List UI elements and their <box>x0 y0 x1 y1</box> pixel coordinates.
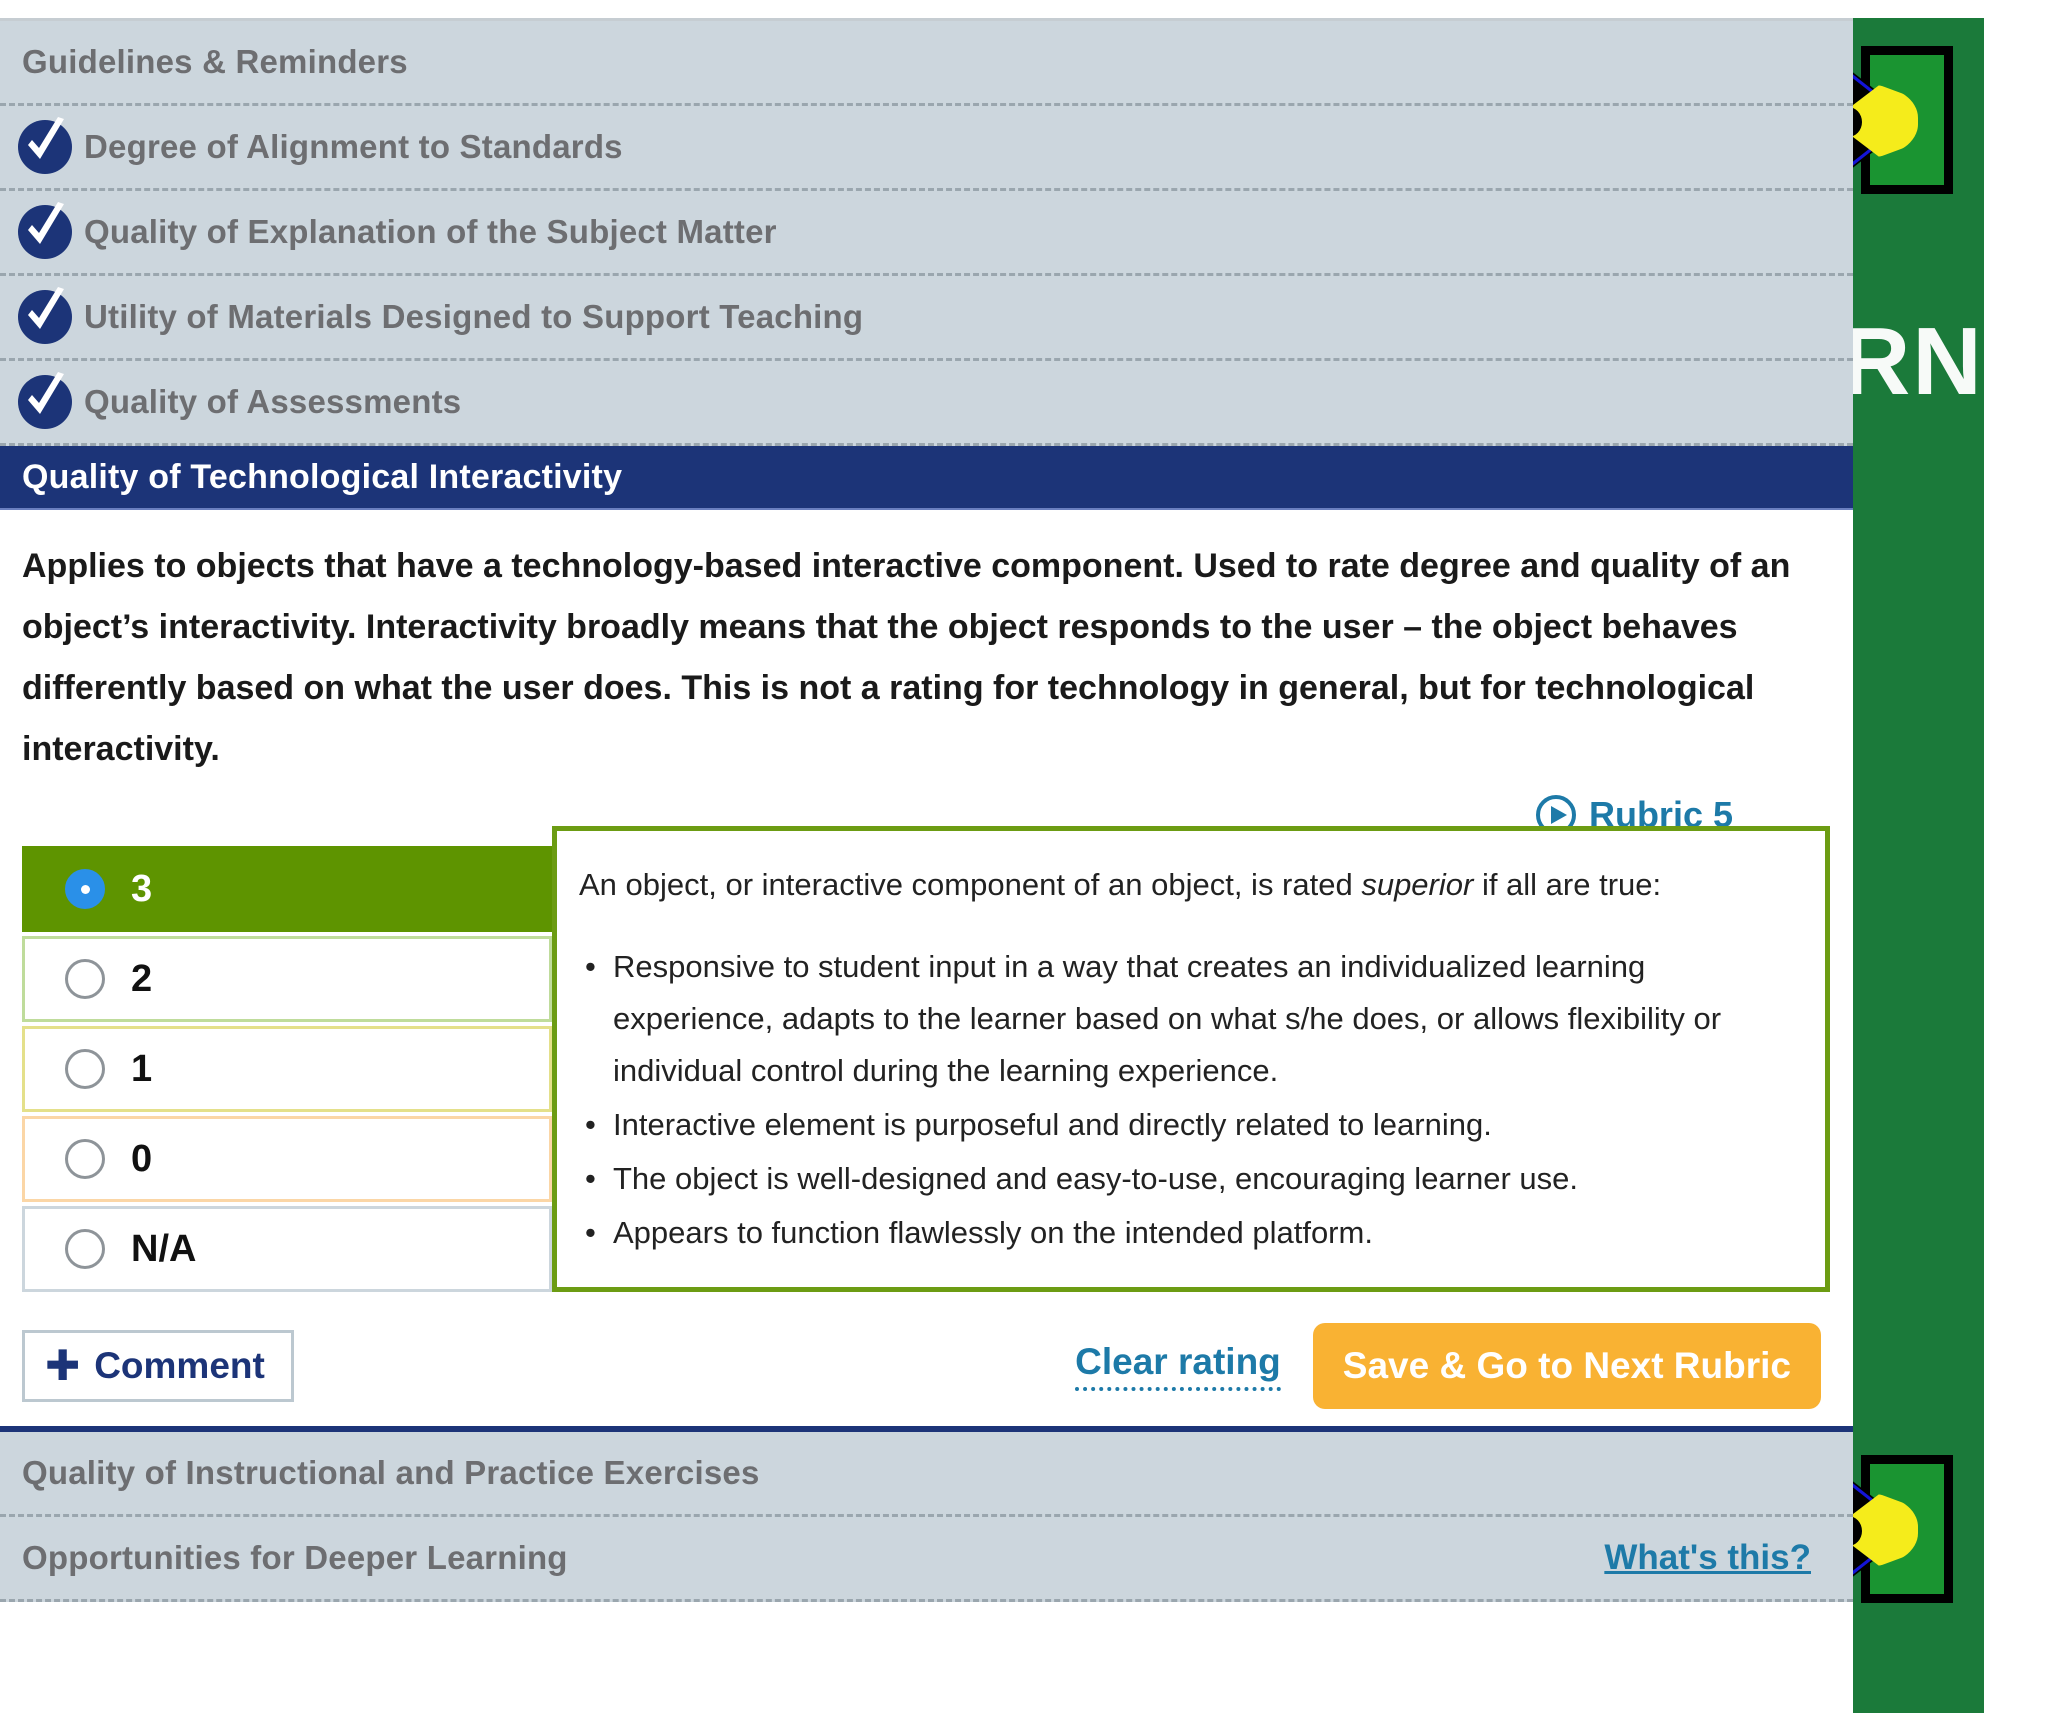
rating-option-label: 3 <box>131 868 152 911</box>
rating-description-tooltip: An object, or interactive component of a… <box>552 826 1830 1292</box>
tooltip-bullet: Appears to function flawlessly on the in… <box>579 1207 1791 1259</box>
tooltip-bullet-list: Responsive to student input in a way tha… <box>579 941 1791 1259</box>
rating-option-na[interactable]: N/A <box>22 1206 552 1292</box>
save-and-next-button[interactable]: Save & Go to Next Rubric <box>1313 1323 1821 1409</box>
radio-icon[interactable] <box>65 1049 105 1089</box>
brand-side-text: LEARNING <box>1853 288 1983 436</box>
rating-option-label: N/A <box>131 1228 196 1271</box>
rubric-list-item-label: Utility of Materials Designed to Support… <box>72 298 863 336</box>
clear-rating-link[interactable]: Clear rating <box>1075 1341 1281 1391</box>
rubric-list-item-instructional-exercises[interactable]: Quality of Instructional and Practice Ex… <box>0 1432 1853 1517</box>
add-comment-label: Comment <box>94 1345 265 1387</box>
rating-option-3[interactable]: 3 <box>22 846 552 932</box>
check-circle-icon <box>18 290 72 344</box>
tooltip-lead: An object, or interactive component of a… <box>579 859 1791 911</box>
radio-icon[interactable] <box>65 869 105 909</box>
rating-options-list: 3 2 1 0 N/A <box>22 846 552 1292</box>
rating-option-0[interactable]: 0 <box>22 1116 552 1202</box>
rubric-list-item-alignment[interactable]: Degree of Alignment to Standards <box>0 106 1853 191</box>
rating-region: 3 2 1 0 N/A <box>0 836 1853 1306</box>
rubric-list-item-deeper-learning[interactable]: Opportunities for Deeper Learning What's… <box>0 1517 1853 1602</box>
app-screen: LEARNING Guidelines & Reminders Degree o… <box>0 0 2048 1713</box>
rubric-list-item-label: Quality of Assessments <box>72 383 461 421</box>
rubric-list-item-label: Quality of Instructional and Practice Ex… <box>22 1454 760 1492</box>
check-circle-icon <box>18 120 72 174</box>
whats-this-link[interactable]: What's this? <box>1604 1538 1811 1578</box>
radio-icon[interactable] <box>65 1229 105 1269</box>
rubric-list-item-explanation[interactable]: Quality of Explanation of the Subject Ma… <box>0 191 1853 276</box>
check-circle-icon <box>18 205 72 259</box>
tooltip-bullet: The object is well-designed and easy-to-… <box>579 1153 1791 1205</box>
rubric-panel: Guidelines & Reminders Degree of Alignme… <box>0 18 1853 1650</box>
eye-chevron-logo-icon <box>1861 46 1953 194</box>
pending-rubric-list: Quality of Instructional and Practice Ex… <box>0 1432 1853 1602</box>
plus-icon: ✚ <box>45 1347 80 1385</box>
tooltip-lead-after: if all are true: <box>1473 867 1661 902</box>
check-circle-icon <box>18 375 72 429</box>
tooltip-bullet: Responsive to student input in a way tha… <box>579 941 1791 1097</box>
tooltip-lead-before: An object, or interactive component of a… <box>579 867 1361 902</box>
rubric-list-item-assessments[interactable]: Quality of Assessments <box>0 361 1853 446</box>
rubric-list-item-label: Degree of Alignment to Standards <box>72 128 623 166</box>
rating-option-label: 1 <box>131 1048 152 1091</box>
add-comment-button[interactable]: ✚ Comment <box>22 1330 294 1402</box>
eye-chevron-logo-icon <box>1861 1455 1953 1603</box>
active-rubric-header[interactable]: Quality of Technological Interactivity <box>0 446 1853 510</box>
rating-option-label: 2 <box>131 958 152 1001</box>
tooltip-bullet: Interactive element is purposeful and di… <box>579 1099 1791 1151</box>
rating-option-2[interactable]: 2 <box>22 936 552 1022</box>
active-rubric-body: Applies to objects that have a technolog… <box>0 510 1853 836</box>
rubric-list-item-label: Quality of Explanation of the Subject Ma… <box>72 213 777 251</box>
radio-icon[interactable] <box>65 1139 105 1179</box>
active-rubric-description: Applies to objects that have a technolog… <box>22 536 1793 780</box>
tooltip-lead-emphasis: superior <box>1361 867 1473 902</box>
section-title: Guidelines & Reminders <box>22 43 408 81</box>
rubric-action-bar: ✚ Comment Clear rating Save & Go to Next… <box>0 1306 1853 1426</box>
rubric-list-item-label: Opportunities for Deeper Learning <box>22 1539 568 1577</box>
active-rubric-title: Quality of Technological Interactivity <box>22 458 622 497</box>
radio-icon[interactable] <box>65 959 105 999</box>
rating-option-label: 0 <box>131 1138 152 1181</box>
section-header-guidelines: Guidelines & Reminders <box>0 21 1853 106</box>
rating-option-1[interactable]: 1 <box>22 1026 552 1112</box>
rubric-list-item-utility[interactable]: Utility of Materials Designed to Support… <box>0 276 1853 361</box>
